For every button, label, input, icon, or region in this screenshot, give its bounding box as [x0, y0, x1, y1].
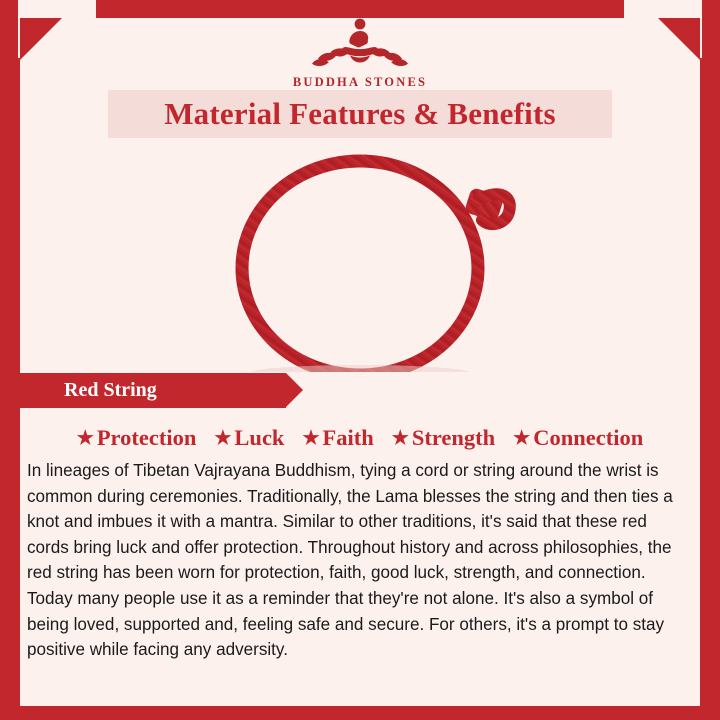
- star-icon: ★: [513, 429, 530, 448]
- brand-logo: BUDDHA STONES: [0, 14, 720, 90]
- brand-name: BUDDHA STONES: [0, 75, 720, 90]
- page-title: Material Features & Benefits: [164, 96, 556, 132]
- frame-bottom-bar: [0, 706, 720, 720]
- keyword-item-4: ★ Connection: [513, 425, 643, 451]
- material-label-tag: Red String: [20, 373, 286, 408]
- keyword-item-1: ★ Luck: [214, 425, 284, 451]
- keyword-item-0: ★ Protection: [77, 425, 197, 451]
- frame-left-bar: [0, 0, 20, 720]
- keyword-label-1: Luck: [234, 425, 284, 451]
- star-icon: ★: [77, 429, 94, 448]
- keyword-item-3: ★ Strength: [392, 425, 495, 451]
- frame-right-bar: [700, 0, 720, 720]
- product-image: [20, 140, 700, 372]
- page-title-banner: Material Features & Benefits: [108, 90, 612, 138]
- lotus-meditation-figure-icon: [312, 14, 408, 72]
- star-icon: ★: [214, 429, 231, 448]
- infographic-page: BUDDHA STONES Material Features & Benefi…: [0, 0, 720, 720]
- keyword-label-4: Connection: [533, 425, 643, 451]
- description-paragraph: In lineages of Tibetan Vajrayana Buddhis…: [20, 458, 700, 663]
- keyword-label-0: Protection: [97, 425, 197, 451]
- star-icon: ★: [302, 429, 319, 448]
- benefit-keywords: ★ Protection ★ Luck ★ Faith ★ Strength ★…: [20, 418, 700, 458]
- material-label-text: Red String: [64, 379, 157, 402]
- red-string-bracelet-illustration: [20, 140, 700, 372]
- keyword-item-2: ★ Faith: [302, 425, 373, 451]
- keyword-label-3: Strength: [412, 425, 495, 451]
- star-icon: ★: [392, 429, 409, 448]
- keyword-label-2: Faith: [323, 425, 374, 451]
